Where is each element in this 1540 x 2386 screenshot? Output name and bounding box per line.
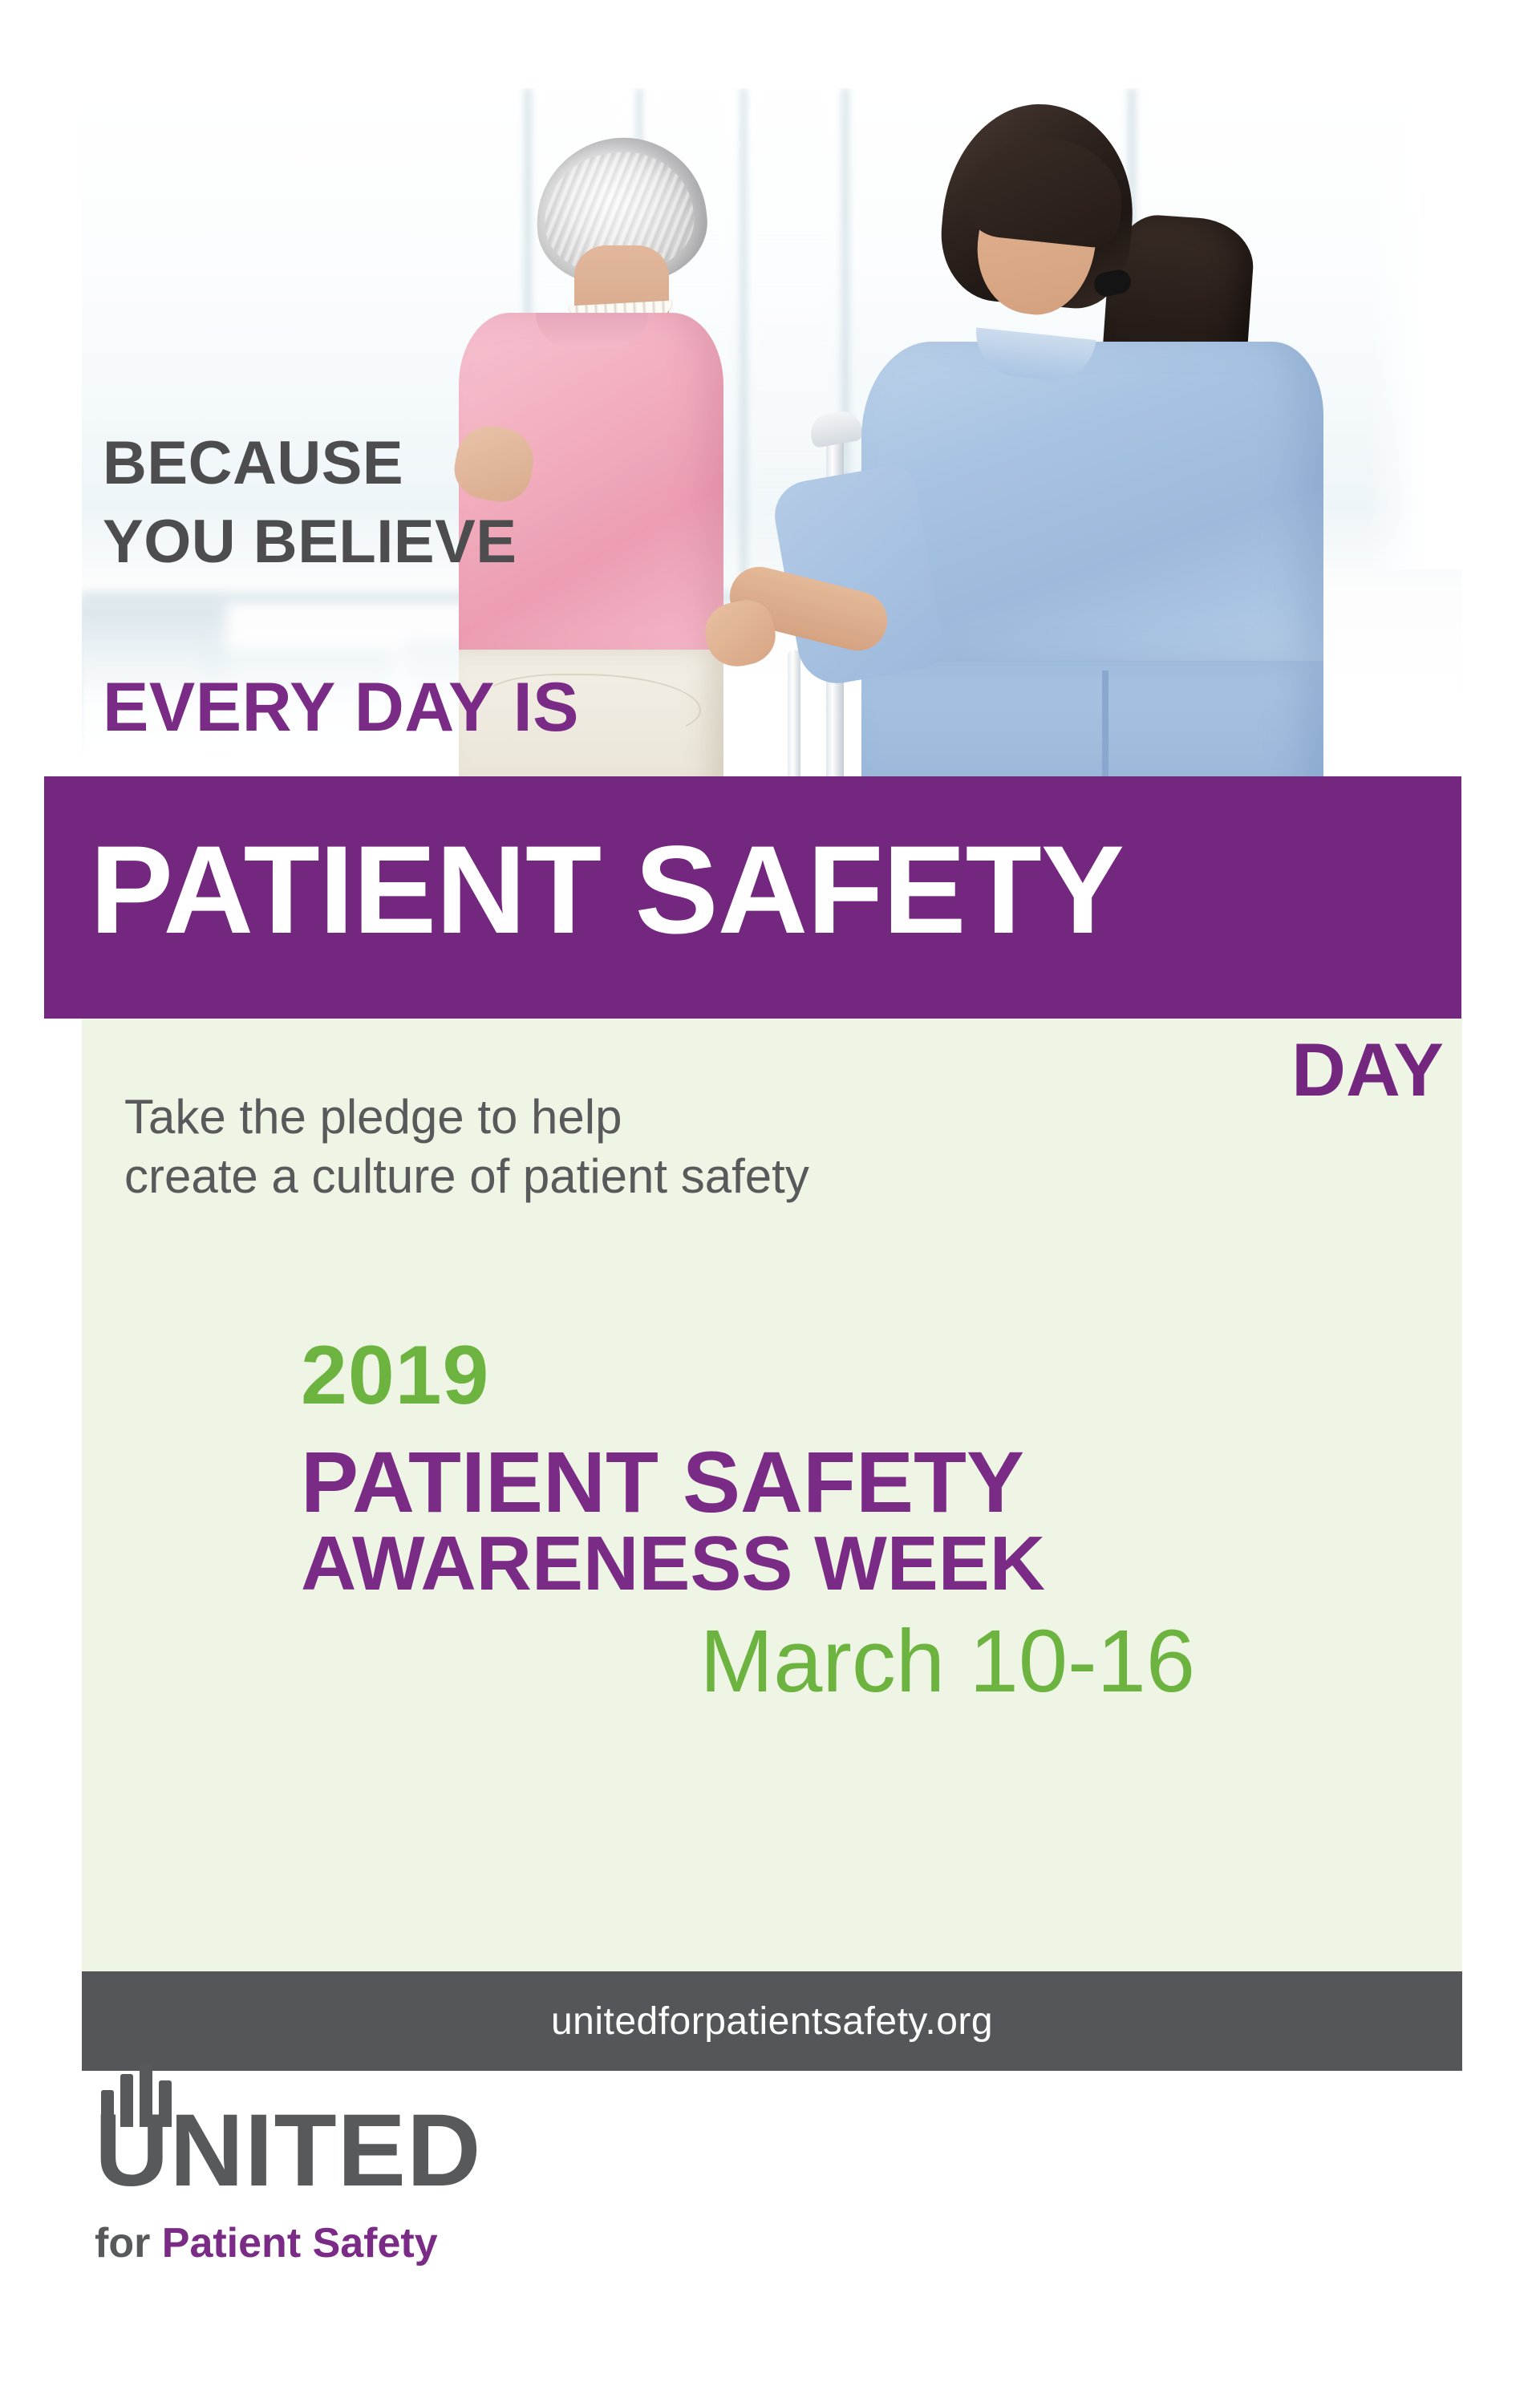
nurse-blue-scrub-pants (861, 661, 1323, 788)
logo-wordmark: UNITED (95, 2100, 481, 2202)
website-bar[interactable]: unitedforpatientsafety.org (82, 1971, 1462, 2071)
photo-highlight-fade (1368, 88, 1462, 569)
headline-line-2: YOU BELIEVE (103, 510, 905, 573)
logo-wordmark-row: UNITED (95, 2100, 480, 2228)
headline-line-1: BECAUSE (103, 431, 905, 495)
pledge-line-2: create a culture of patient safety (124, 1147, 1167, 1206)
pledge-text: Take the pledge to help create a culture… (124, 1088, 1167, 1206)
event-name-line-2: AWARENESS WEEK (301, 1522, 1045, 1606)
website-url[interactable]: unitedforpatientsafety.org (551, 1999, 993, 2044)
poster-canvas: BECAUSE YOU BELIEVE EVERY DAY IS PATIENT… (0, 0, 1540, 2386)
pledge-line-1: Take the pledge to help (124, 1088, 1167, 1147)
logo-tagline-prefix: for (95, 2220, 162, 2266)
logo-tagline-emphasis: Patient Safety (162, 2220, 438, 2266)
walker-leg (788, 650, 800, 788)
event-dates: March 10-16 (0, 1612, 1195, 1712)
event-year: 2019 (301, 1331, 489, 1420)
headline-line-3: EVERY DAY IS (103, 672, 579, 743)
banner-title: PATIENT SAFETY (90, 810, 1124, 970)
organization-logo: UNITED for Patient Safety (95, 2100, 544, 2284)
event-name-line-1: PATIENT SAFETY (301, 1436, 1024, 1529)
logo-tagline: for Patient Safety (95, 2220, 438, 2266)
